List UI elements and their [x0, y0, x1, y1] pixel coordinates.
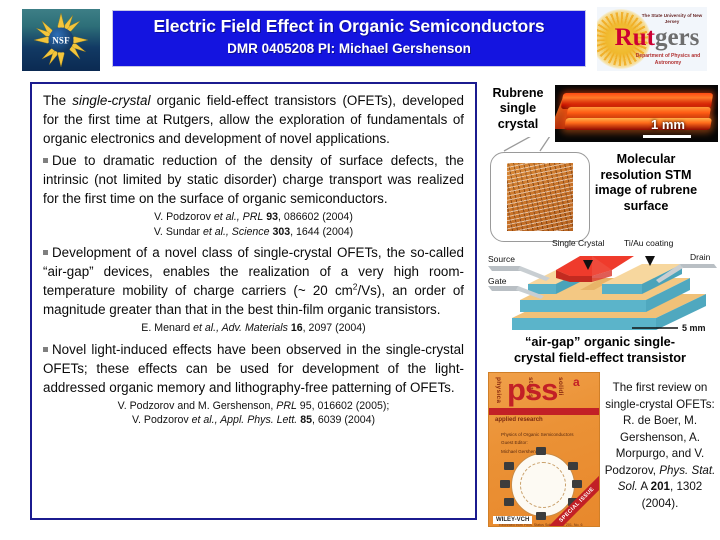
device-label-source: Source — [488, 254, 515, 264]
stm-image — [507, 163, 573, 231]
review-reference-text: The first review on single-crystal OFETs… — [602, 380, 718, 513]
right-figure-column: Rubrene single crystal 1 mm Molecular re… — [482, 82, 720, 540]
rubrene-crystal-label: Rubrene single crystal — [484, 86, 552, 132]
device-caption-line1: “air-gap” organic single- — [482, 334, 718, 350]
rutgers-logo: The State University of New Jersey Rutge… — [597, 7, 707, 71]
air-gap-device-diagram: Source Gate Single Crystal Ti/Au coating… — [484, 240, 720, 340]
journal-pss-superscript: a — [573, 375, 580, 389]
paragraph-2-text: Due to dramatic reduction of the density… — [43, 153, 464, 206]
journal-pss-wordmark: pss — [507, 374, 557, 405]
bullet-square-icon — [43, 347, 48, 352]
citation-3: E. Menard et al., Adv. Materials 16, 209… — [43, 321, 464, 335]
nsf-logo-text: NSF — [52, 35, 70, 45]
paragraph-4: Novel light-induced effects have been ob… — [43, 340, 464, 397]
nsf-globe-icon: NSF — [49, 28, 74, 53]
rutgers-dept-line: Department of Physics and Astronomy — [631, 53, 705, 67]
citation-5: V. Podzorov et al., Appl. Phys. Lett. 85… — [43, 413, 464, 427]
main-text-box: The single-crystal organic field-effect … — [30, 82, 477, 520]
journal-title-line: Physics of Organic Semiconductors Guest … — [501, 431, 593, 456]
journal-applied-research: applied research — [495, 417, 543, 423]
journal-molecule-diagram — [511, 453, 575, 517]
device-label-gate: Gate — [488, 276, 507, 286]
journal-editor-label: Guest Editor: — [501, 439, 593, 447]
device-label-drain: Drain — [690, 252, 711, 262]
journal-issue-title: Physics of Organic Semiconductors — [501, 431, 593, 439]
citation-4: V. Podzorov and M. Gershenson, PRL 95, 0… — [43, 399, 464, 413]
nsf-logo: NSF — [22, 9, 100, 71]
journal-publisher: WILEY-VCH — [493, 516, 532, 524]
device-label-tiau: Ti/Au coating — [624, 240, 674, 248]
paragraph-3: Development of a novel class of single-c… — [43, 243, 464, 319]
journal-vert-physica: physica — [495, 377, 502, 403]
citation-2: V. Sundar et al., Science 303, 1644 (200… — [43, 225, 464, 239]
paragraph-4-text: Novel light-induced effects have been ob… — [43, 342, 464, 395]
bullet-square-icon — [43, 158, 48, 163]
slide-header: NSF Electric Field Effect in Organic Sem… — [0, 0, 720, 78]
bullet-square-icon — [43, 250, 48, 255]
citation-1: V. Podzorov et al., PRL 93, 086602 (2004… — [43, 210, 464, 224]
rutgers-word-gers: gers — [655, 24, 699, 51]
rubrene-scale-label: 1 mm — [633, 117, 703, 132]
device-label-single-crystal: Single Crystal — [552, 240, 605, 248]
device-scale-label: 5 mm — [682, 323, 706, 333]
rubrene-scale-bar — [643, 135, 691, 138]
rutgers-wordmark: Rutgers — [609, 25, 705, 50]
stm-callout-box — [490, 152, 590, 242]
title-banner: Electric Field Effect in Organic Semicon… — [112, 10, 586, 67]
journal-cover-image: physica status solidi pss a applied rese… — [488, 372, 600, 527]
journal-red-bar — [489, 408, 600, 415]
device-caption-line2: crystal field-effect transistor — [482, 350, 718, 366]
rubrene-crystal-photo: 1 mm — [555, 85, 718, 142]
paragraph-1: The single-crystal organic field-effect … — [43, 91, 464, 148]
page-title: Electric Field Effect in Organic Semicon… — [113, 16, 585, 37]
stm-image-label: Molecular resolution STM image of rubren… — [590, 152, 702, 215]
journal-vert-solidi: solidi — [557, 377, 564, 396]
rutgers-word-rut: Rut — [615, 24, 655, 51]
paragraph-2: Due to dramatic reduction of the density… — [43, 151, 464, 208]
device-caption: “air-gap” organic single- crystal field-… — [482, 334, 718, 366]
paragraph-3-text: Development of a novel class of single-c… — [43, 245, 464, 317]
page-subtitle: DMR 0405208 PI: Michael Gershenson — [113, 41, 585, 56]
